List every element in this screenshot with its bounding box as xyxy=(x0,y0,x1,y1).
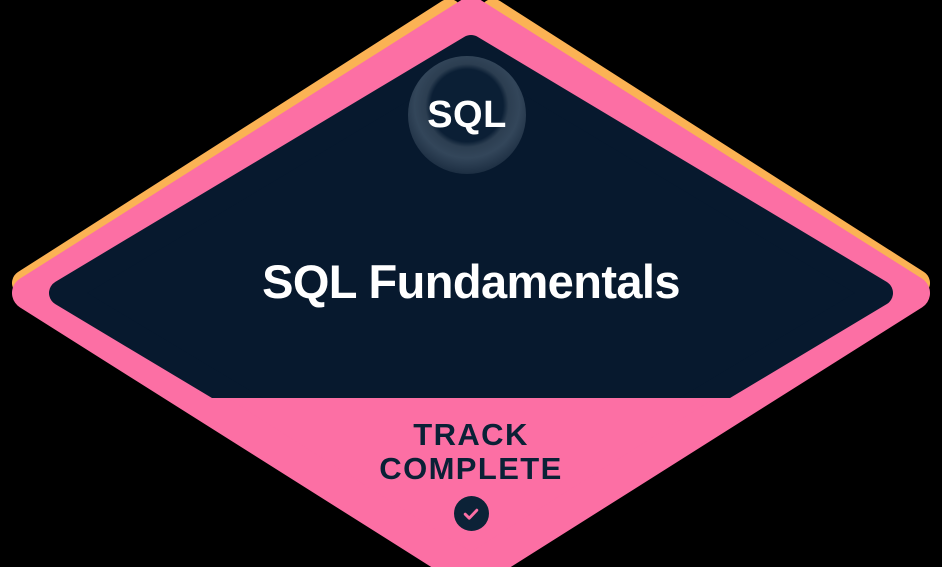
badge-card: SQL SQL Fundamentals TRACK COMPLETE xyxy=(0,0,942,567)
badge-shape-group xyxy=(0,0,942,567)
